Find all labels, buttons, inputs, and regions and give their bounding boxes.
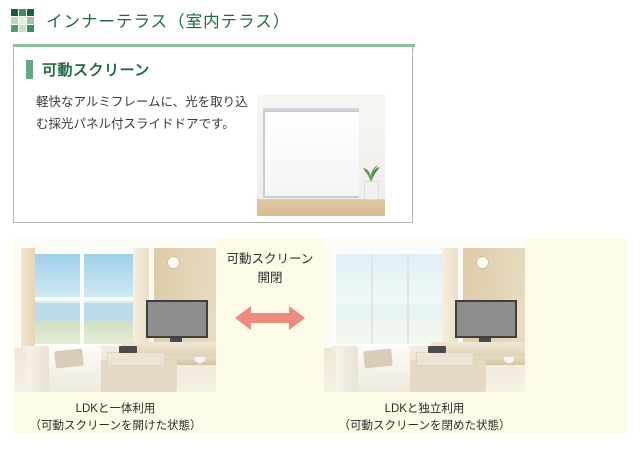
card-heading-text: 可動スクリーン xyxy=(42,59,150,80)
wall-clock-icon xyxy=(167,256,180,269)
room-ceiling xyxy=(15,238,216,248)
photo-door-panel xyxy=(296,112,328,196)
comparison-section: LDKと一体利用 （可動スクリーンを開けた状態） 可動スクリーン 開閉 xyxy=(13,238,627,434)
page-header: インナーテラス（室内テラス） xyxy=(0,0,640,40)
grid-cell xyxy=(27,25,34,32)
room-photo-closed xyxy=(324,238,525,392)
caption-line-2: （可動スクリーンを開けた状態） xyxy=(15,418,216,435)
wall-clock-icon xyxy=(476,256,489,269)
room-ceiling xyxy=(324,238,525,248)
sofa-cushion xyxy=(363,349,393,369)
feature-card: 可動スクリーン 軽快なアルミフレームに、光を取り込む採光パネル付スライドドアです… xyxy=(13,47,413,223)
grid-cell xyxy=(19,17,26,24)
coffee-table xyxy=(107,352,165,366)
television xyxy=(146,300,208,338)
grid-cell xyxy=(11,17,18,24)
room-caption-closed: LDKと独立利用 （可動スクリーンを閉めた状態） xyxy=(324,401,525,436)
grid-cell xyxy=(11,9,18,16)
grid-cell xyxy=(11,25,18,32)
grid-cell xyxy=(19,9,26,16)
plant-icon xyxy=(360,157,382,183)
arrow-label-line-2: 開閉 xyxy=(216,269,324,288)
table-remote xyxy=(428,346,446,353)
screen-panel xyxy=(336,254,373,344)
page-title: インナーテラス（室内テラス） xyxy=(46,8,290,32)
screen-toggle-indicator: 可動スクリーン 開閉 xyxy=(216,250,324,338)
sofa-backrest xyxy=(27,346,49,392)
room-block-open: LDKと一体利用 （可動スクリーンを開けた状態） xyxy=(15,238,216,436)
arrow-label: 可動スクリーン 開閉 xyxy=(216,250,324,289)
plant-pot xyxy=(364,181,379,200)
sofa-backrest xyxy=(336,346,358,392)
television xyxy=(455,300,517,338)
grid-cell xyxy=(27,17,34,24)
table-remote xyxy=(119,346,137,353)
grid-squares-icon xyxy=(11,9,34,32)
heading-accent-bar xyxy=(26,60,33,79)
double-headed-arrow-icon xyxy=(235,303,305,333)
photo-door-panel xyxy=(327,112,359,196)
caption-line-1: LDKと独立利用 xyxy=(324,401,525,418)
room-photo-open xyxy=(15,238,216,392)
caption-line-2: （可動スクリーンを閉めた状態） xyxy=(324,418,525,435)
grid-cell xyxy=(19,25,26,32)
card-body: 軽快なアルミフレームに、光を取り込む採光パネル付スライドドアです。 xyxy=(14,92,412,216)
room-block-closed: LDKと独立利用 （可動スクリーンを閉めた状態） xyxy=(324,238,525,436)
window-mullion xyxy=(27,297,137,301)
screen-panel xyxy=(373,254,410,344)
screen-panel xyxy=(409,254,446,344)
room-window-open xyxy=(23,250,141,348)
room-screen-closed xyxy=(332,250,450,348)
room-caption-open: LDKと一体利用 （可動スクリーンを開けた状態） xyxy=(15,401,216,436)
card-description: 軽快なアルミフレームに、光を取り込む採光パネル付スライドドアです。 xyxy=(36,92,254,216)
grid-cell xyxy=(27,9,34,16)
photo-door-frame xyxy=(263,110,359,198)
arrow-label-line-1: 可動スクリーン xyxy=(216,250,324,269)
photo-floor xyxy=(257,199,385,216)
photo-door-panel xyxy=(265,112,297,196)
card-heading: 可動スクリーン xyxy=(26,59,412,80)
screen-door-photo xyxy=(257,94,385,216)
coffee-table xyxy=(416,352,474,366)
caption-line-1: LDKと一体利用 xyxy=(15,401,216,418)
room-curtain-left xyxy=(21,248,35,350)
sofa-cushion xyxy=(54,349,84,369)
